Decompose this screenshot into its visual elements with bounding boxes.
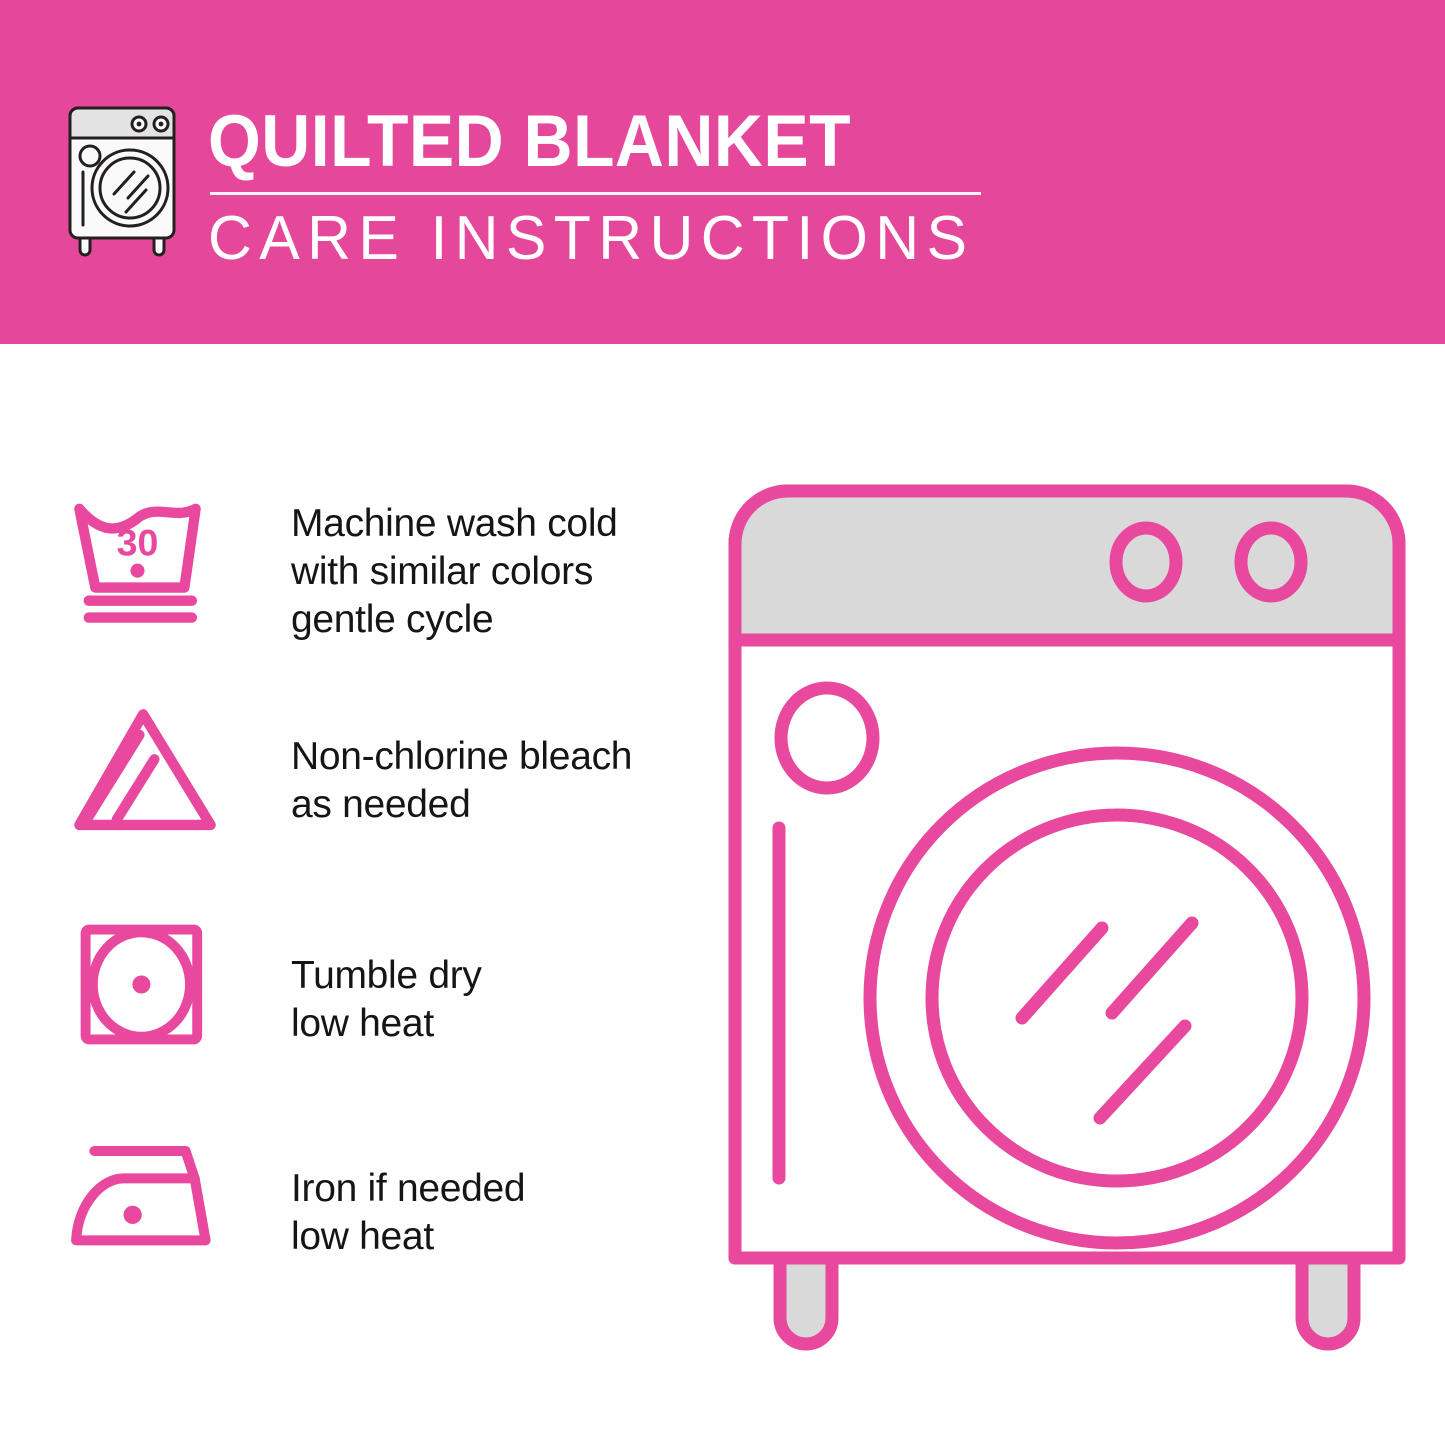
header-content: QUILTED BLANKET CARE INSTRUCTIONS <box>62 100 990 273</box>
care-row: Non-chlorine bleach as needed <box>62 689 702 902</box>
washing-machine-illustration <box>722 478 1412 1368</box>
title-divider <box>210 192 981 195</box>
care-row-label: Non-chlorine bleach as needed <box>291 689 702 829</box>
care-row: Iron if needed low heat <box>62 1115 702 1328</box>
iron-low-heat-icon <box>62 1115 227 1280</box>
wash-tub-30-gentle-icon: 30 <box>62 476 227 641</box>
page-header: QUILTED BLANKET CARE INSTRUCTIONS <box>0 0 1445 344</box>
washing-machine-icon <box>62 102 186 257</box>
care-row-label: Iron if needed low heat <box>291 1115 702 1261</box>
care-row-label: Tumble dry low heat <box>291 902 702 1048</box>
page-subtitle: CARE INSTRUCTIONS <box>208 205 974 273</box>
care-instructions-page: QUILTED BLANKET CARE INSTRUCTIONS 30 <box>0 0 1445 1445</box>
page-title: QUILTED BLANKET <box>208 104 935 180</box>
tumble-dry-low-heat-icon <box>62 902 227 1067</box>
care-row: 30 Machine wash cold with similar colors… <box>62 476 702 689</box>
care-row: Tumble dry low heat <box>62 902 702 1115</box>
non-chlorine-bleach-triangle-icon <box>62 689 227 854</box>
wash-temperature-value: 30 <box>116 522 158 564</box>
care-row-label: Machine wash cold with similar colors ge… <box>291 476 702 644</box>
header-titles: QUILTED BLANKET CARE INSTRUCTIONS <box>208 100 990 273</box>
care-instruction-list: 30 Machine wash cold with similar colors… <box>62 476 702 1328</box>
